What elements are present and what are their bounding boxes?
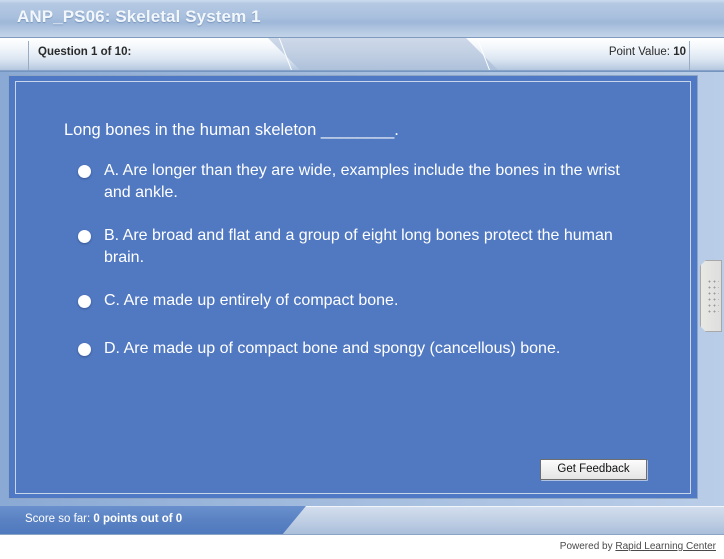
title-bar: ANP_PS06: Skeletal System 1 <box>0 0 724 38</box>
point-value: Point Value: 10 <box>609 46 686 58</box>
answer-option-label: A. Are longer than they are wide, exampl… <box>104 160 624 203</box>
question-bar-separator-right <box>689 41 690 70</box>
question-status-bar: Question 1 of 10: Point Value: 10 <box>0 38 724 72</box>
answer-option-label: D. Are made up of compact bone and spong… <box>104 338 624 360</box>
question-counter: Question 1 of 10: <box>38 46 131 58</box>
score-status: Score so far: 0 points out of 0 <box>25 513 182 525</box>
answer-option-label: B. Are broad and flat and a group of eig… <box>104 225 624 268</box>
radio-bullet-icon[interactable] <box>78 165 91 178</box>
point-value-label: Point Value: <box>609 46 670 58</box>
radio-bullet-icon[interactable] <box>78 230 91 243</box>
score-label: Score so far: <box>25 513 90 525</box>
get-feedback-button[interactable]: Get Feedback <box>540 459 647 480</box>
answer-options-list: A. Are longer than they are wide, exampl… <box>64 160 664 386</box>
point-value-number: 10 <box>673 46 686 58</box>
answer-option-label: C. Are made up entirely of compact bone. <box>104 290 624 312</box>
radio-bullet-icon[interactable] <box>78 295 91 308</box>
grip-dots-icon <box>708 280 719 314</box>
answer-option-c[interactable]: C. Are made up entirely of compact bone. <box>64 290 664 316</box>
score-bar: Score so far: 0 points out of 0 <box>0 506 724 535</box>
question-bar-separator-left <box>28 41 29 70</box>
page-title: ANP_PS06: Skeletal System 1 <box>17 7 261 27</box>
provider-link[interactable]: Rapid Learning Center <box>615 541 716 552</box>
powered-by-label: Powered by <box>560 541 613 552</box>
footer: Powered by Rapid Learning Center <box>0 536 724 559</box>
question-prompt: Long bones in the human skeleton _______… <box>64 120 644 141</box>
powered-by: Powered by Rapid Learning Center <box>560 541 716 552</box>
answer-option-d[interactable]: D. Are made up of compact bone and spong… <box>64 338 664 364</box>
answer-option-b[interactable]: B. Are broad and flat and a group of eig… <box>64 225 664 268</box>
score-value: 0 points out of 0 <box>93 513 182 525</box>
radio-bullet-icon[interactable] <box>78 343 91 356</box>
content-stage: Long bones in the human skeleton _______… <box>0 72 724 506</box>
question-panel-outer: Long bones in the human skeleton _______… <box>8 75 698 499</box>
quiz-application: ANP_PS06: Skeletal System 1 Question 1 o… <box>0 0 724 559</box>
panel-resize-handle[interactable] <box>700 260 722 332</box>
answer-option-a[interactable]: A. Are longer than they are wide, exampl… <box>64 160 664 203</box>
question-panel: Long bones in the human skeleton _______… <box>15 81 691 494</box>
